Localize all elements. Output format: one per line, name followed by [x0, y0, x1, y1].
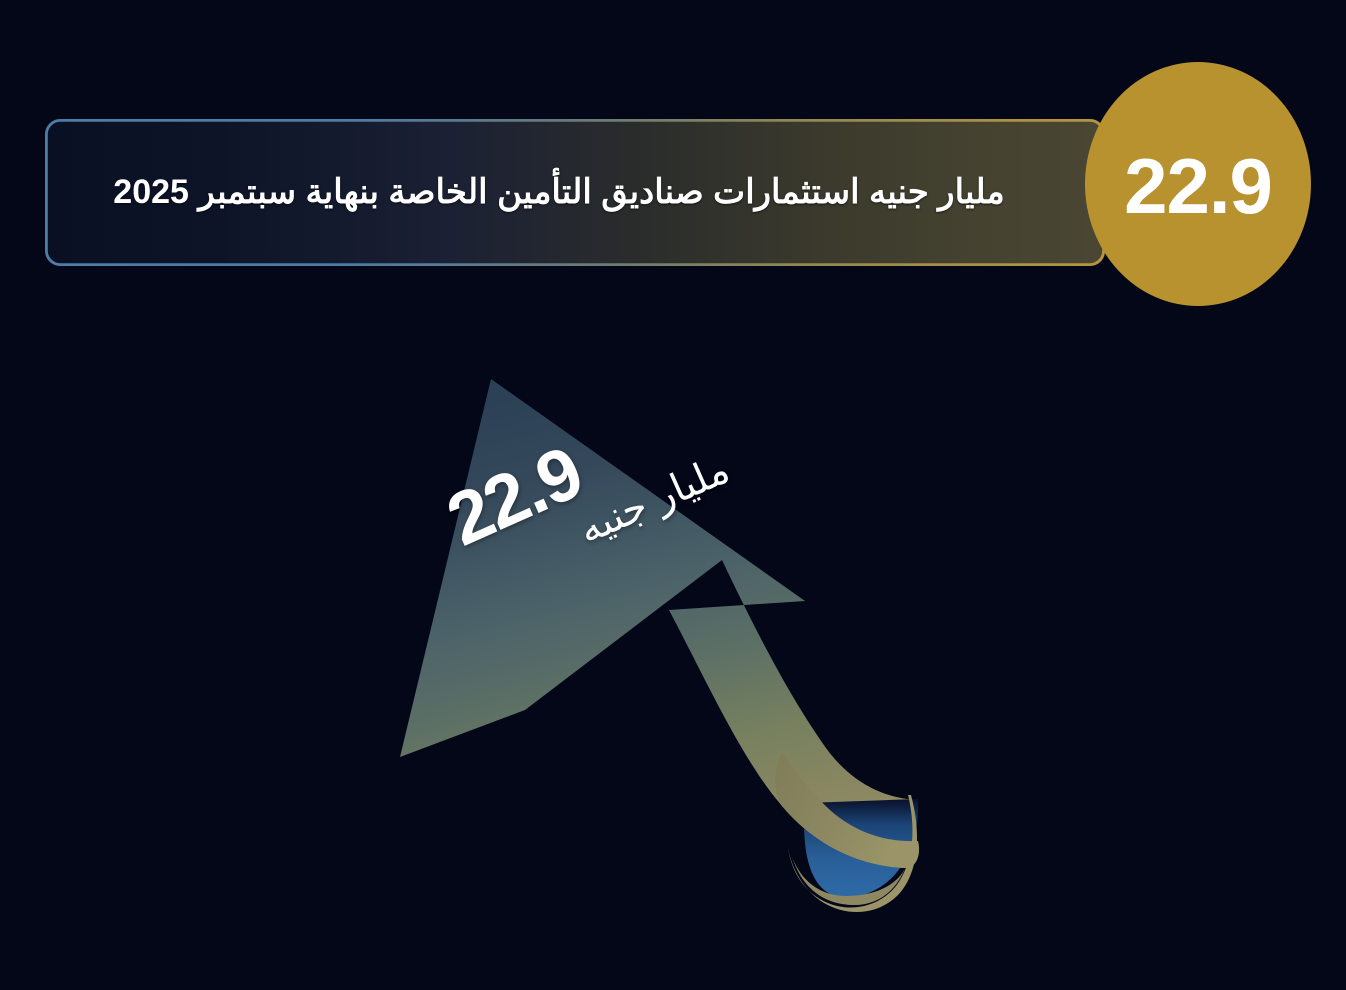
- arrow-unit: مليار جنيه: [467, 444, 742, 600]
- arrow-tail-curl-outer: [775, 752, 919, 912]
- arrow-label: 22.9 مليار جنيه: [438, 378, 742, 600]
- page-title: مليار جنيه استثمارات صناديق التأمين الخا…: [113, 168, 1004, 216]
- value-badge: 22.9: [1085, 62, 1311, 306]
- infographic-canvas: مليار جنيه استثمارات صناديق التأمين الخا…: [0, 0, 1346, 990]
- arrow-value: 22.9: [438, 378, 722, 556]
- page-title-container: مليار جنيه استثمارات صناديق التأمين الخا…: [45, 119, 1065, 266]
- value-badge-number: 22.9: [1124, 147, 1272, 225]
- arrow-body: [400, 379, 918, 868]
- arrow-tail-curl-inner: [762, 798, 918, 903]
